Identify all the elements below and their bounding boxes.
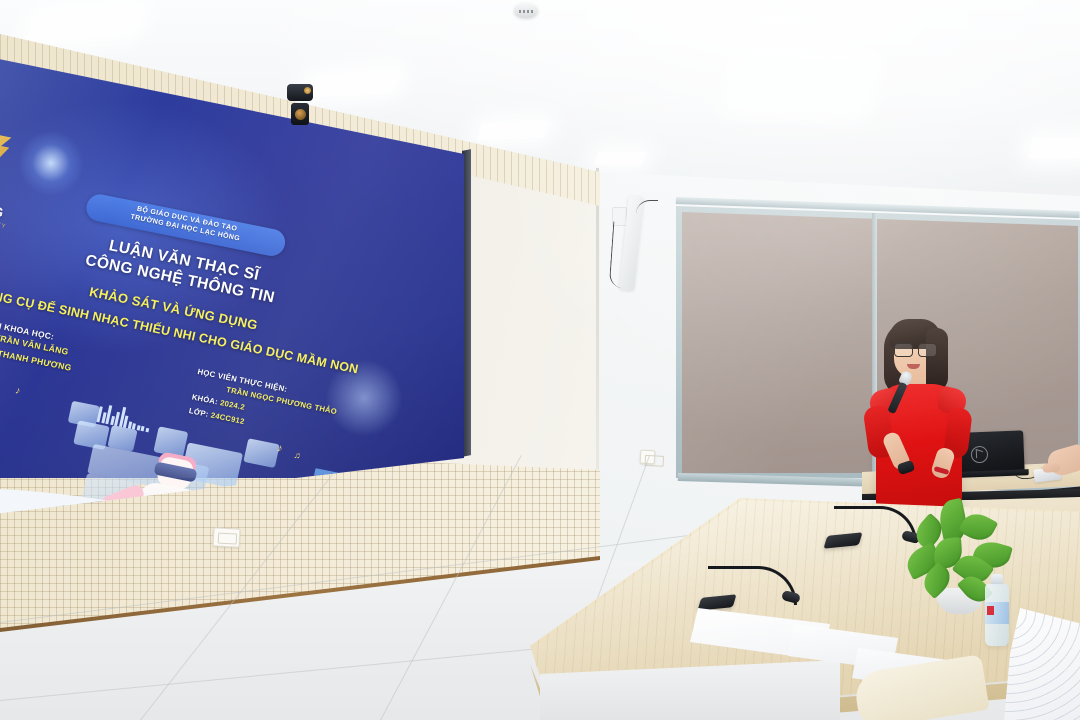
camera-lens [291,103,309,125]
presenter [862,314,982,514]
ceiling-led-panel [476,121,549,140]
classroom-presentation-photo: BỘ GIÁO DỤC VÀ ĐÀO TẠO TRƯỜNG ĐẠI HỌC LẠ… [0,0,1080,720]
eyeglasses-icon [893,343,937,355]
smoke-detector-icon [514,3,538,18]
ceiling-led-panel [1027,138,1080,158]
ceiling-led-panel [729,56,873,113]
presenter-hair-side [926,328,948,392]
water-bottle[interactable] [985,572,1009,646]
ptz-camera-icon [287,84,313,126]
power-outlet-icon[interactable] [213,527,241,547]
speaker-cable [636,200,658,223]
ceiling-led-panel [594,152,647,165]
camera-highlight [304,87,311,94]
bottle-label [985,602,1009,624]
